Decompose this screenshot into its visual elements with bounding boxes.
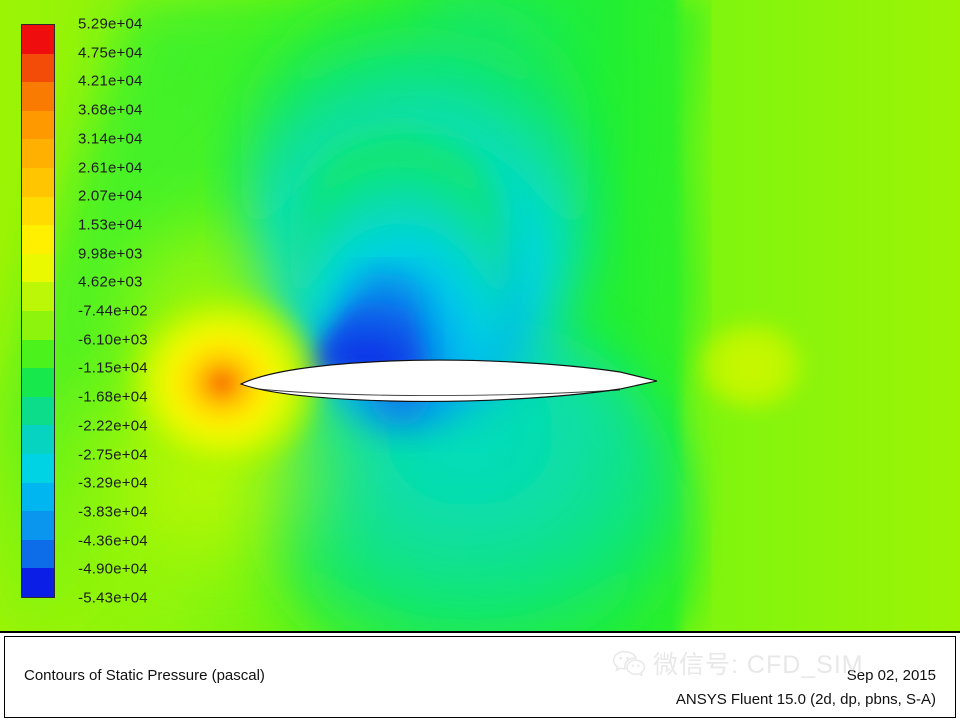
colorbar-label-18: -4.36e+04 [78, 532, 148, 549]
colorbar-band-6 [22, 197, 54, 226]
colorbar-band-15 [22, 454, 54, 483]
colorbar-label-5: 2.61e+04 [78, 159, 143, 176]
figure-title: Contours of Static Pressure (pascal) [24, 667, 265, 684]
colorbar-band-14 [22, 425, 54, 454]
colorbar-band-0 [22, 25, 54, 54]
colorbar-label-12: -1.15e+04 [78, 360, 148, 377]
colorbar-band-17 [22, 511, 54, 540]
colorbar-label-13: -1.68e+04 [78, 389, 148, 406]
solver-info: ANSYS Fluent 15.0 (2d, dp, pbns, S-A) [676, 691, 936, 708]
colorbar-band-12 [22, 368, 54, 397]
colorbar-band-18 [22, 540, 54, 569]
colorbar-band-11 [22, 340, 54, 369]
downstream-recovery-blob [697, 319, 807, 413]
colorbar-label-8: 9.98e+03 [78, 245, 143, 262]
colorbar-label-20: -5.43e+04 [78, 590, 148, 607]
colorbar-band-7 [22, 225, 54, 254]
colorbar-label-2: 4.21e+04 [78, 73, 143, 90]
colorbar-band-8 [22, 254, 54, 283]
colorbar-label-4: 3.14e+04 [78, 130, 143, 147]
colorbar-band-3 [22, 111, 54, 140]
figure-date: Sep 02, 2015 [847, 667, 936, 684]
colorbar-band-16 [22, 483, 54, 512]
colorbar-band-5 [22, 168, 54, 197]
colorbar-label-16: -3.29e+04 [78, 475, 148, 492]
colorbar-band-2 [22, 82, 54, 111]
pressure-colorbar-labels: 5.29e+044.75e+044.21e+043.68e+043.14e+04… [78, 24, 198, 598]
colorbar-label-19: -4.90e+04 [78, 561, 148, 578]
fluent-contour-figure: 5.29e+044.75e+044.21e+043.68e+043.14e+04… [0, 0, 960, 720]
colorbar-label-9: 4.62e+03 [78, 274, 143, 291]
colorbar-band-13 [22, 397, 54, 426]
colorbar-label-14: -2.22e+04 [78, 417, 148, 434]
figure-footer: Contours of Static Pressure (pascal) Sep… [0, 631, 960, 720]
colorbar-label-1: 4.75e+04 [78, 44, 143, 61]
colorbar-label-0: 5.29e+04 [78, 16, 143, 33]
colorbar-label-3: 3.68e+04 [78, 102, 143, 119]
pressure-colorbar [21, 24, 55, 598]
colorbar-label-11: -6.10e+03 [78, 331, 148, 348]
colorbar-label-10: -7.44e+02 [78, 303, 148, 320]
colorbar-band-1 [22, 54, 54, 83]
colorbar-label-15: -2.75e+04 [78, 446, 148, 463]
colorbar-label-7: 1.53e+04 [78, 216, 143, 233]
colorbar-label-17: -3.83e+04 [78, 503, 148, 520]
colorbar-label-6: 2.07e+04 [78, 188, 143, 205]
colorbar-band-19 [22, 568, 54, 597]
colorbar-band-10 [22, 311, 54, 340]
colorbar-band-9 [22, 282, 54, 311]
colorbar-band-4 [22, 139, 54, 168]
